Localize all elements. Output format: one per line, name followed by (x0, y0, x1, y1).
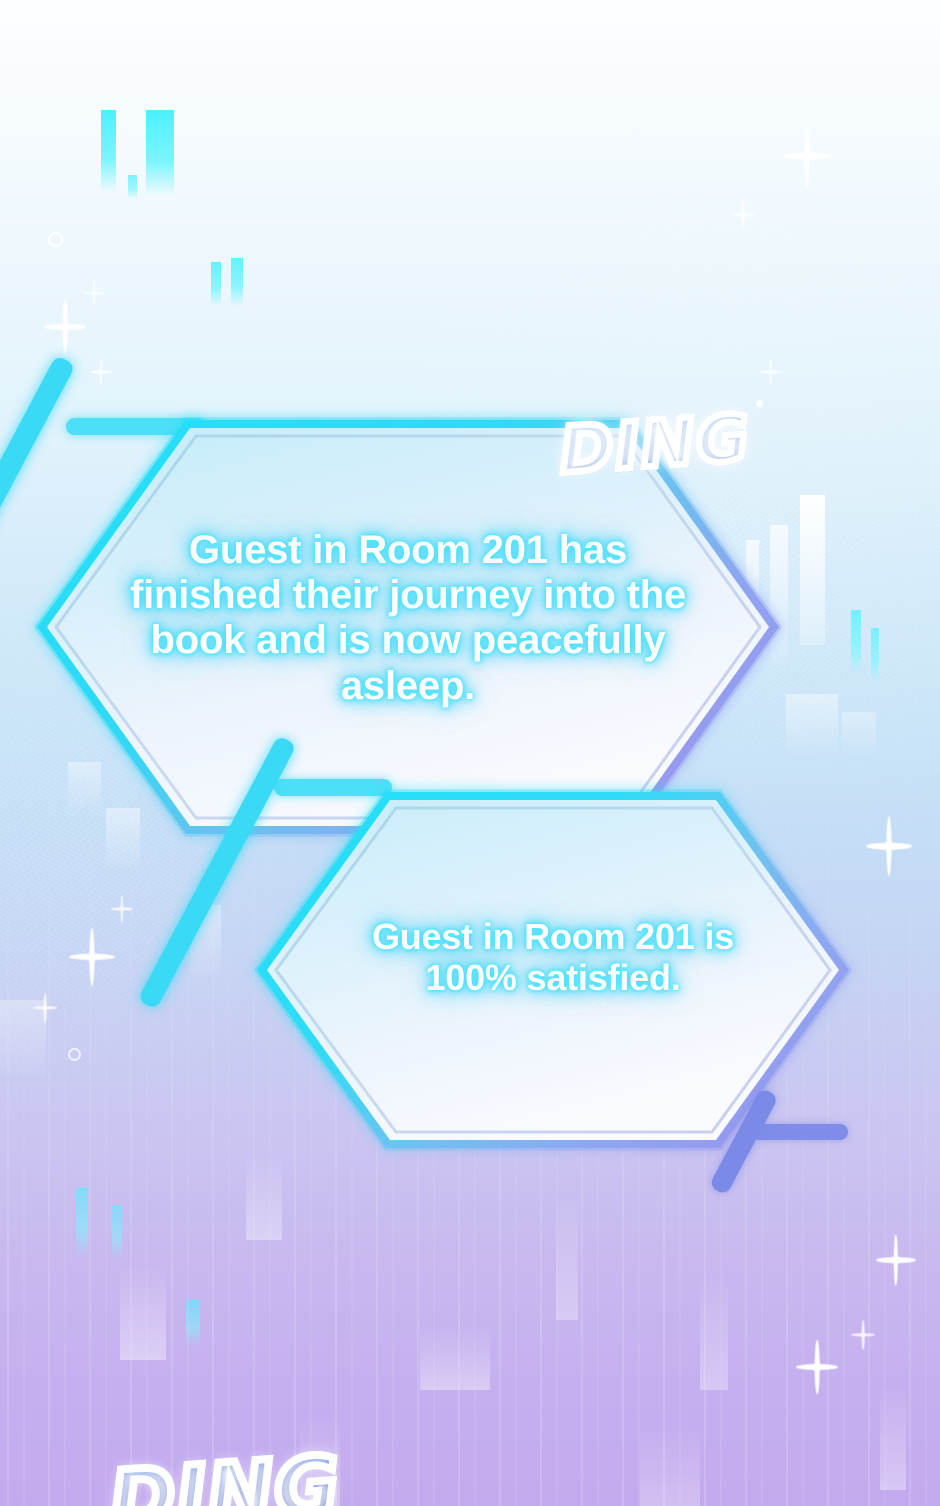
decor-bar (880, 1390, 906, 1490)
decor-bar (128, 175, 137, 199)
decor-bar (76, 1188, 88, 1258)
sparkle-icon (866, 816, 912, 876)
decor-bar (420, 1330, 490, 1390)
decor-bar (120, 1270, 166, 1360)
sparkle-icon (111, 895, 133, 923)
decor-bar (231, 258, 243, 306)
circle-outline-icon (68, 1048, 81, 1061)
speech-bubble-1[interactable]: Guest in Room 201 has finished their jou… (36, 418, 780, 836)
sparkle-icon (69, 928, 115, 986)
sparkle-icon (44, 300, 86, 354)
decor-bar (786, 694, 838, 754)
speech-bubble-2[interactable]: Guest in Room 201 is 100% satisfied. (256, 790, 850, 1150)
sound-effect-ding-bottom: DING (107, 1440, 344, 1506)
sparkle-icon (33, 993, 57, 1023)
sparkle-icon (783, 125, 831, 187)
sparkle-icon (731, 200, 755, 230)
sparkle-icon (90, 358, 112, 386)
decor-bar (800, 495, 825, 645)
decor-bar (246, 1160, 282, 1240)
ding-bottom-text: DING (107, 1440, 344, 1506)
decor-bar (851, 610, 861, 675)
decor-bar (211, 262, 221, 306)
comic-panel: Guest in Room 201 has finished their jou… (0, 0, 940, 1506)
decor-bar (186, 1300, 200, 1346)
decor-bar (0, 1000, 46, 1078)
decor-bar (640, 1430, 700, 1506)
decor-bar (190, 905, 221, 977)
decor-bar (146, 110, 174, 196)
decor-bar (300, 1420, 340, 1506)
decor-bar (101, 110, 116, 192)
decor-bar (112, 1205, 122, 1259)
decor-bar (556, 1200, 578, 1320)
sparkle-icon (876, 1234, 916, 1286)
sparkle-icon (851, 1320, 875, 1350)
sparkle-icon (796, 1340, 838, 1394)
circle-outline-icon (48, 232, 63, 247)
decor-bar (842, 712, 876, 754)
sparkle-icon (84, 280, 104, 306)
sparkle-icon (760, 358, 782, 386)
decor-bar (871, 628, 879, 684)
decor-bar (700, 1280, 728, 1390)
glow-dot (756, 400, 763, 407)
